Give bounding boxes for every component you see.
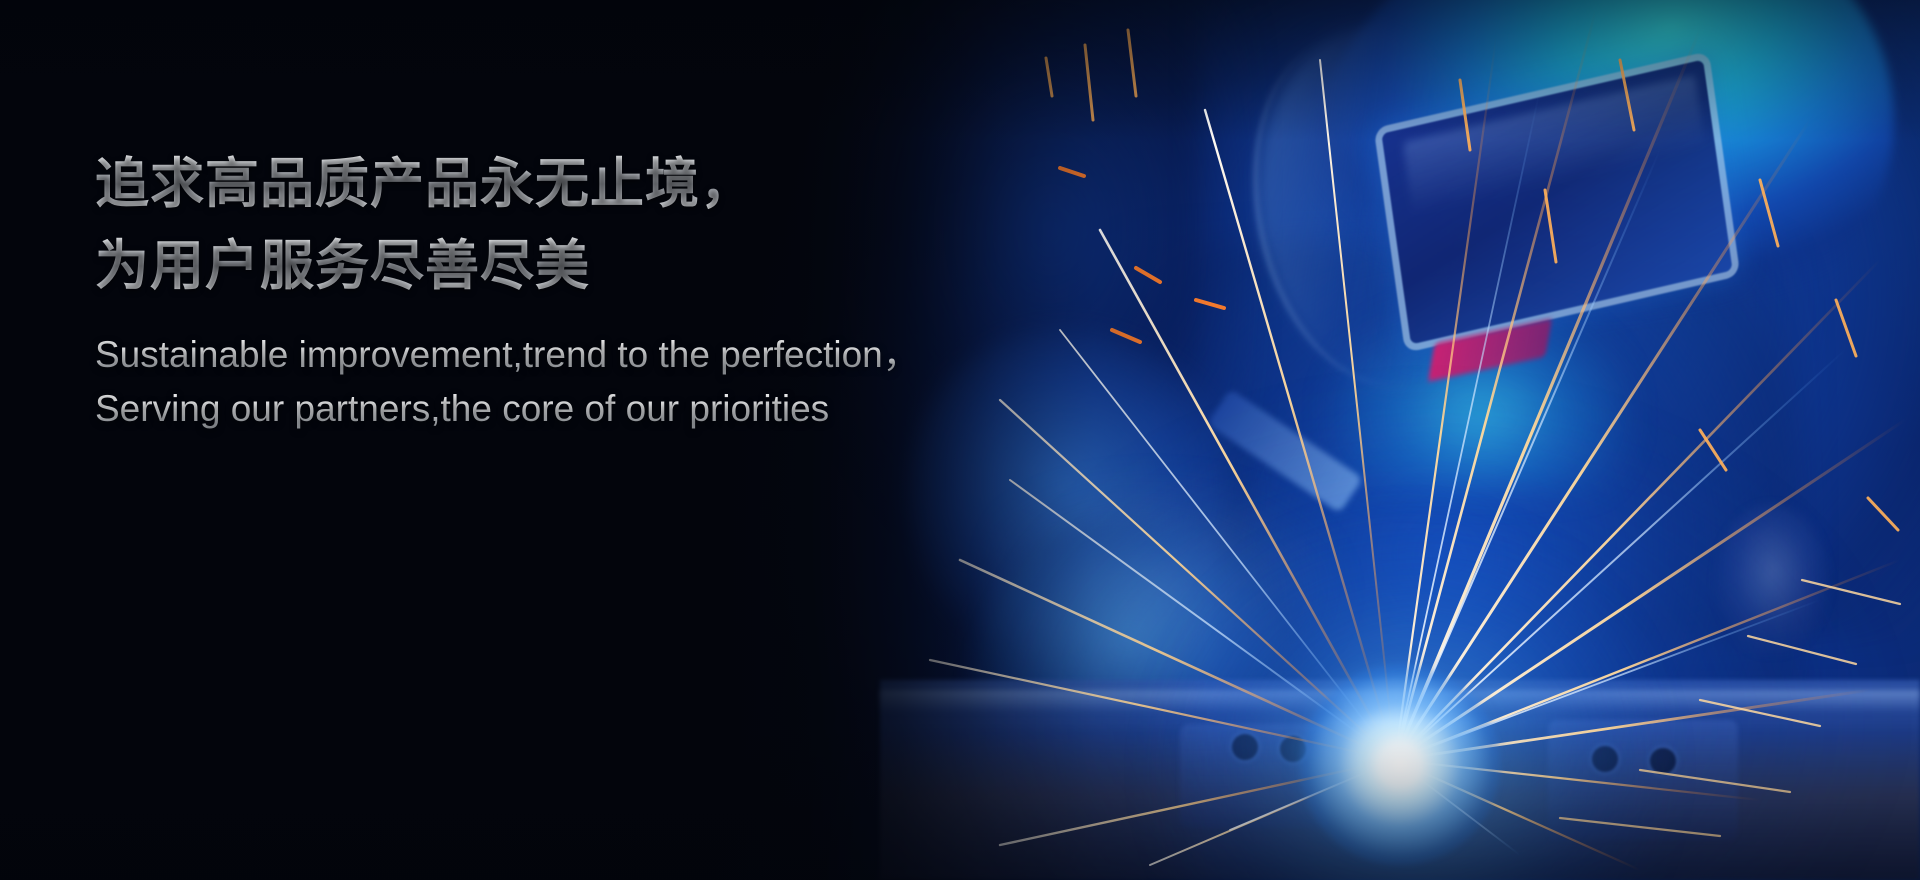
welding-background-image <box>0 0 1920 880</box>
edge-vignette <box>0 0 1920 880</box>
headline-line-2: 为用户服务尽善尽美 <box>95 225 920 307</box>
subtitle-line-2: Serving our partners,the core of our pri… <box>95 383 920 435</box>
subtitle-line-1: Sustainable improvement,trend to the per… <box>95 329 920 381</box>
hero-banner: 追求高品质产品永无止境， 为用户服务尽善尽美 Sustainable impro… <box>0 0 1920 880</box>
banner-copy: 追求高品质产品永无止境， 为用户服务尽善尽美 Sustainable impro… <box>95 143 920 435</box>
headline-line-1: 追求高品质产品永无止境， <box>95 143 920 225</box>
